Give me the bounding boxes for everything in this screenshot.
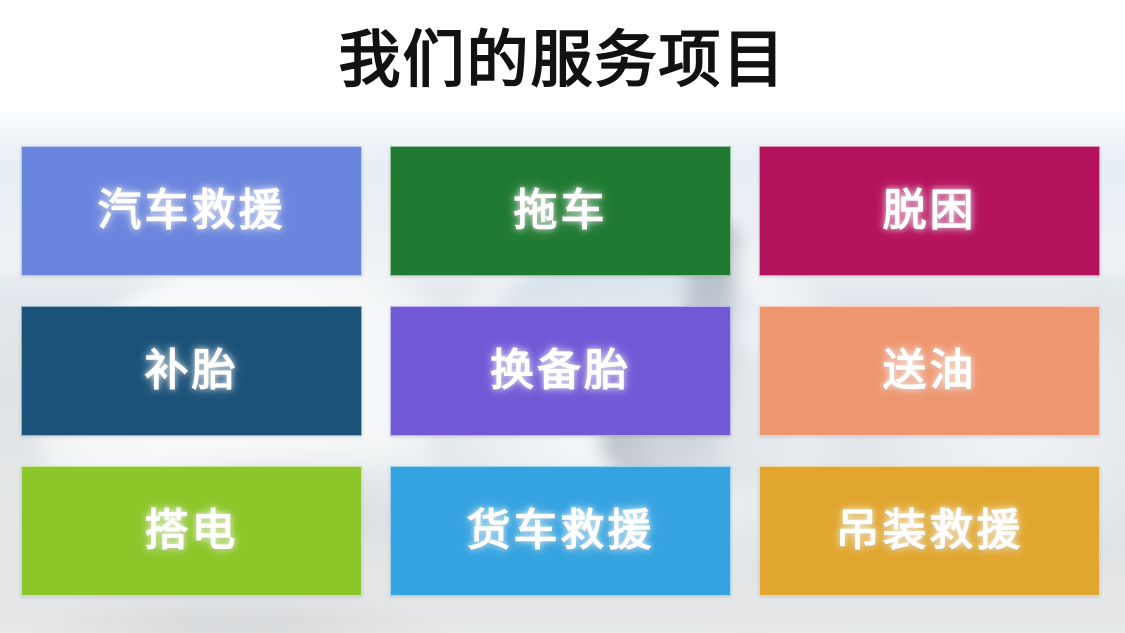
service-menu-slide: 我们的服务项目 汽车救援拖车脱困补胎换备胎送油搭电货车救援吊装救援	[0, 0, 1125, 633]
service-tile[interactable]: 补胎	[21, 306, 362, 436]
service-tile[interactable]: 拖车	[390, 146, 731, 276]
service-tile[interactable]: 汽车救援	[21, 146, 362, 276]
service-tile-label: 换备胎	[490, 347, 631, 395]
service-tile-label: 送油	[883, 347, 977, 395]
service-tile-label: 拖车	[514, 187, 608, 235]
service-tile[interactable]: 脱困	[759, 146, 1100, 276]
service-tile[interactable]: 换备胎	[390, 306, 731, 436]
page-title: 我们的服务项目	[0, 25, 1125, 95]
service-tile[interactable]: 搭电	[21, 466, 362, 596]
service-tile-label: 货车救援	[467, 507, 655, 555]
service-tile-label: 补胎	[145, 347, 239, 395]
service-tile-label: 脱困	[883, 187, 977, 235]
service-tile-label: 汽车救援	[98, 187, 286, 235]
service-tile-label: 搭电	[145, 507, 239, 555]
service-tile[interactable]: 货车救援	[390, 466, 731, 596]
service-tile[interactable]: 送油	[759, 306, 1100, 436]
service-tile[interactable]: 吊装救援	[759, 466, 1100, 596]
service-grid: 汽车救援拖车脱困补胎换备胎送油搭电货车救援吊装救援	[21, 146, 1103, 597]
service-tile-label: 吊装救援	[836, 507, 1024, 555]
